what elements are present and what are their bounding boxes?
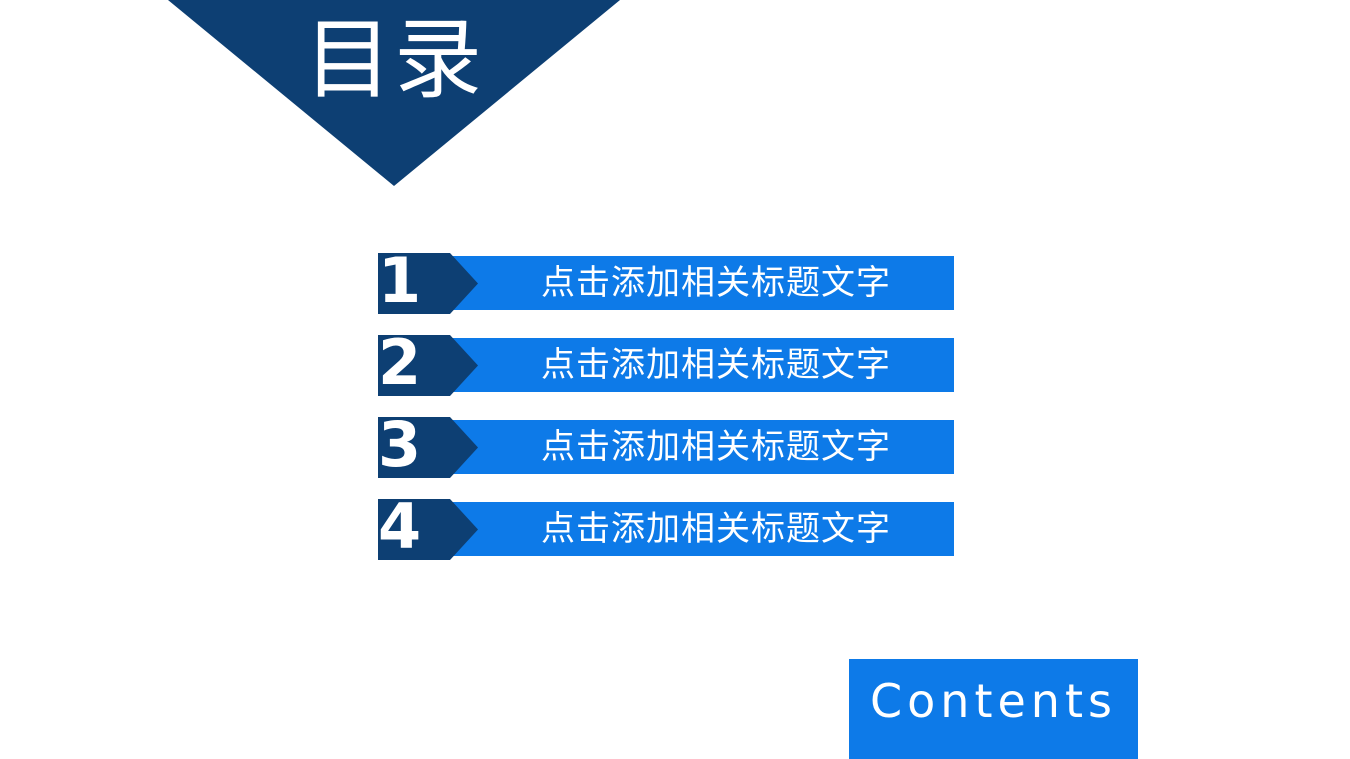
toc-label: 点击添加相关标题文字 <box>478 338 954 392</box>
list-item[interactable]: 2 点击添加相关标题文字 <box>378 335 958 417</box>
list-item[interactable]: 4 点击添加相关标题文字 <box>378 499 958 581</box>
slide-canvas: { "slide": { "background_color": "#fffff… <box>0 0 1350 759</box>
contents-badge-label: Contents <box>849 673 1138 729</box>
list-item[interactable]: 3 点击添加相关标题文字 <box>378 417 958 499</box>
toc-number: 4 <box>378 494 434 560</box>
toc-label: 点击添加相关标题文字 <box>478 420 954 474</box>
toc-number: 1 <box>378 248 434 314</box>
toc-label: 点击添加相关标题文字 <box>478 502 954 556</box>
list-item[interactable]: 1 点击添加相关标题文字 <box>378 253 958 335</box>
page-title: 目录 <box>168 14 620 106</box>
contents-list: 1 点击添加相关标题文字 2 点击添加相关标题文字 3 点击添加相关标题文字 4… <box>378 253 958 581</box>
toc-number: 3 <box>378 412 434 478</box>
toc-label: 点击添加相关标题文字 <box>478 256 954 310</box>
toc-number: 2 <box>378 330 434 396</box>
contents-badge: Contents <box>849 659 1138 759</box>
